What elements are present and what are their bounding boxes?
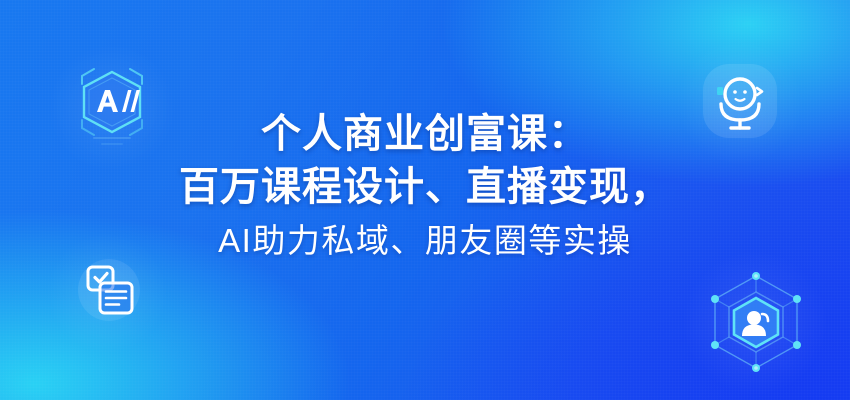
title-line-1: 个人商业创富课： xyxy=(0,108,850,161)
banner-title: 个人商业创富课： 百万课程设计、直播变现， AI助力私域、朋友圈等实操 xyxy=(0,108,850,266)
title-line-3: AI助力私域、朋友圈等实操 xyxy=(0,216,850,266)
title-line-2: 百万课程设计、直播变现， xyxy=(0,161,850,214)
promo-banner: 个人商业创富课： 百万课程设计、直播变现， AI助力私域、朋友圈等实操 xyxy=(0,0,850,400)
network-hexagon-person-icon xyxy=(700,266,812,378)
